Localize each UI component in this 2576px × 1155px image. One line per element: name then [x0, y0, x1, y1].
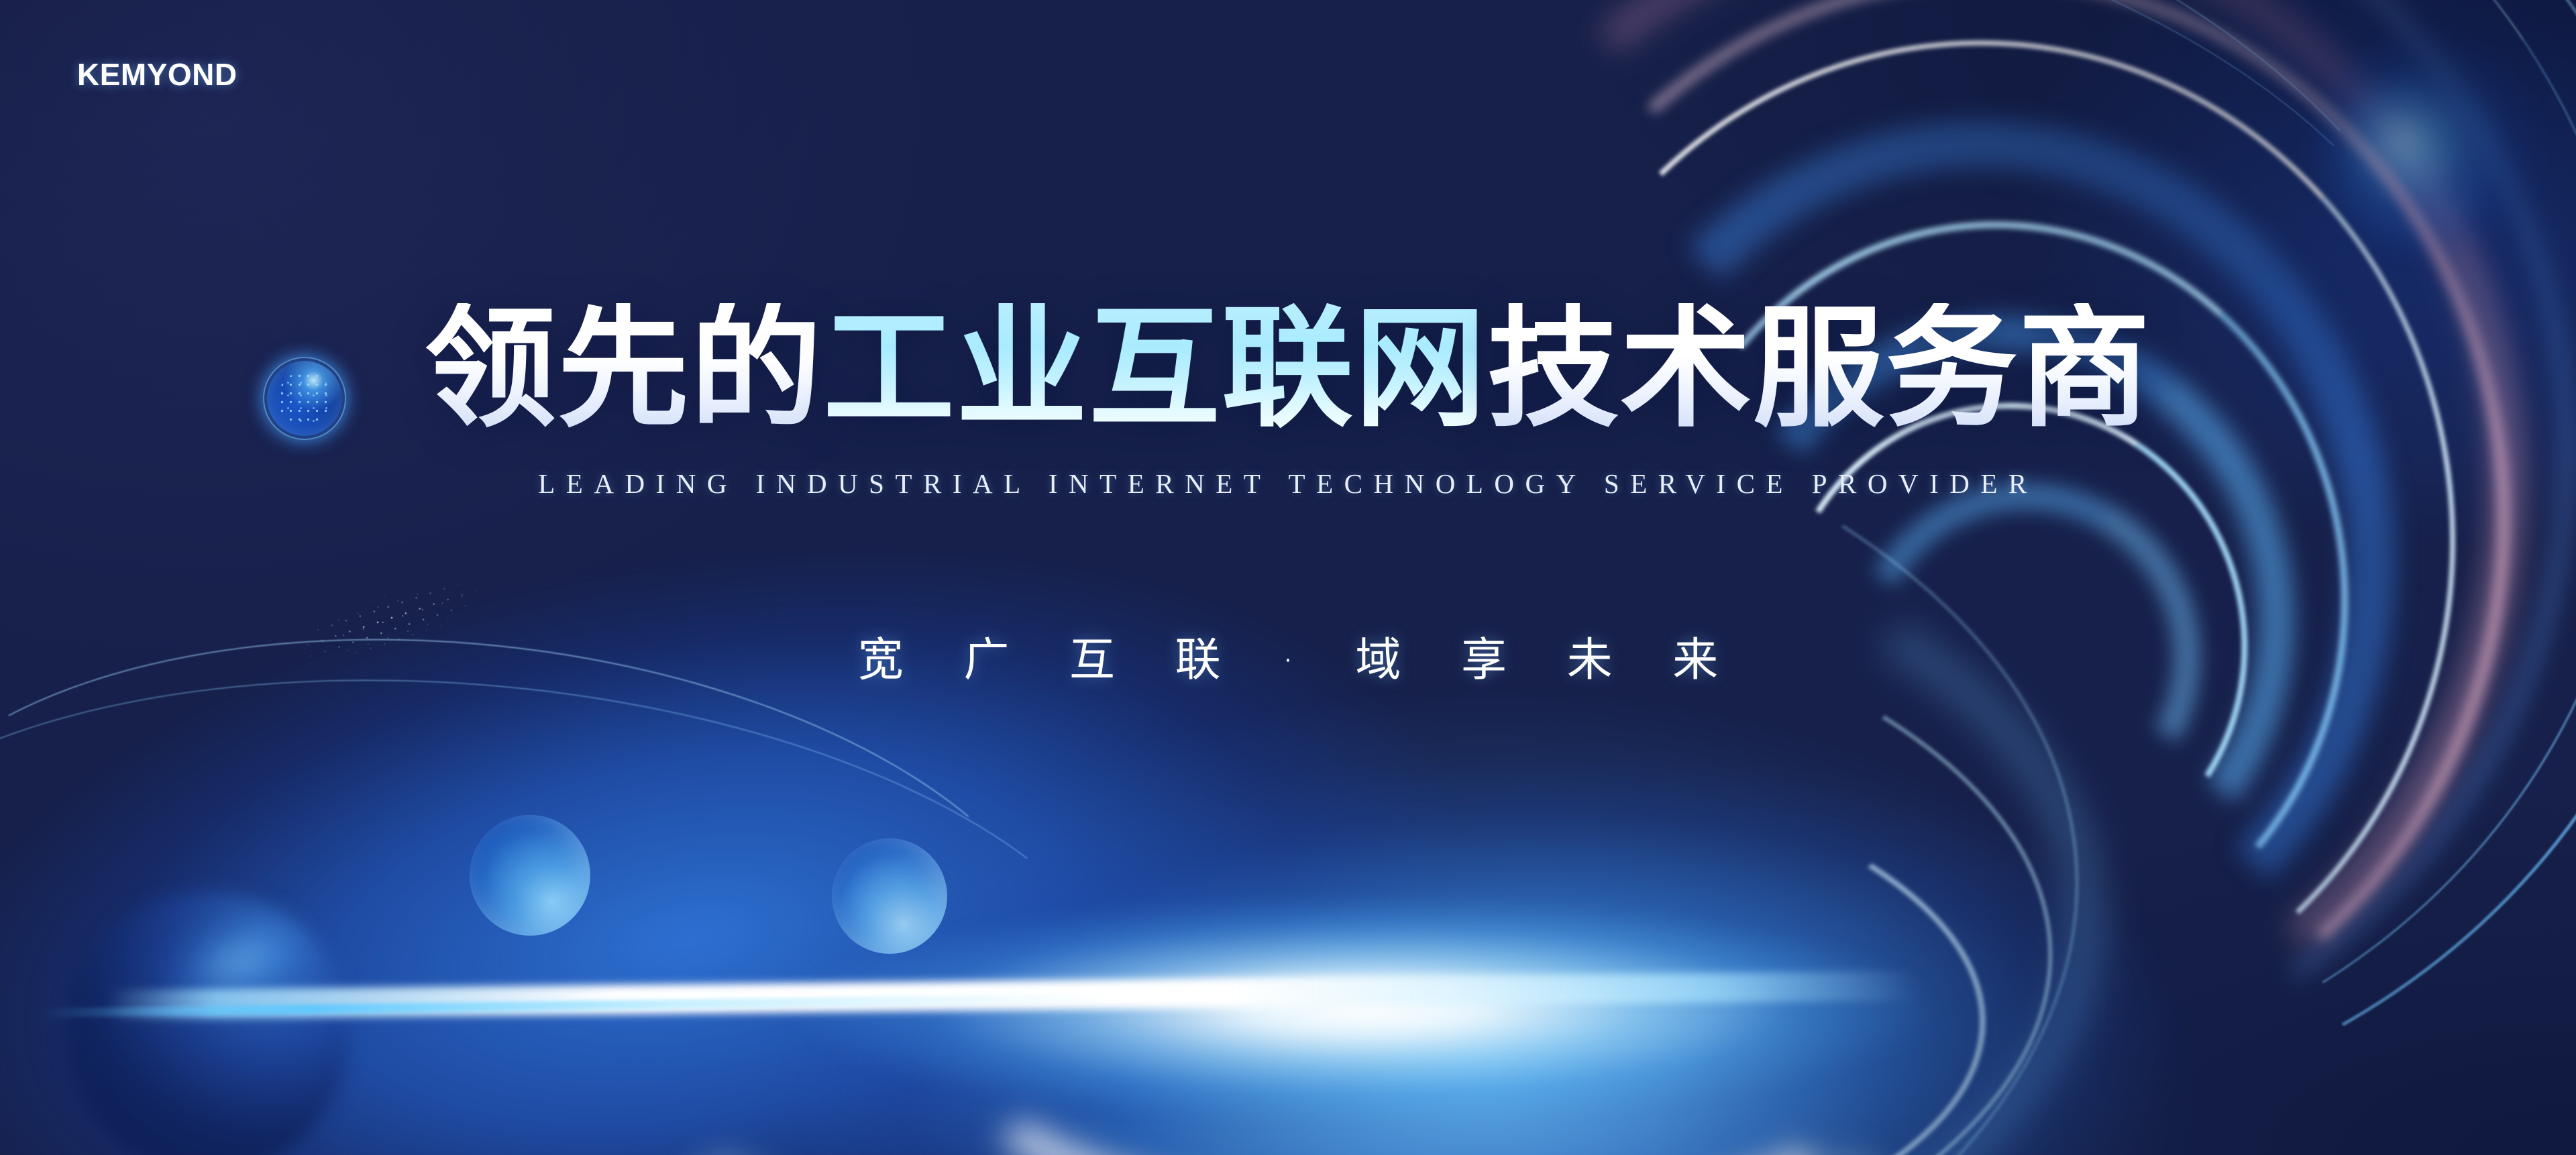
hero-headline: 领先的工业互联网技术服务商	[0, 303, 2576, 435]
headline-segment-2: 工业互联网	[823, 303, 1487, 435]
headline-segment-1: 领先的	[425, 303, 823, 435]
banner-content: KEMYOND 领先的工业互联网技术服务商 LEADING INDUSTRIAL…	[0, 0, 2576, 1155]
headline-segment-3: 技术服务商	[1487, 303, 2151, 435]
banner-canvas: KEMYOND 领先的工业互联网技术服务商 LEADING INDUSTRIAL…	[0, 0, 2576, 1155]
node-sphere-icon	[267, 361, 342, 436]
hero-tagline: 宽 广 互 联 · 域 享 未 来	[0, 622, 2576, 689]
brand-logo[interactable]: KEMYOND	[77, 59, 237, 90]
hero-subtitle: LEADING INDUSTRIAL INTERNET TECHNOLOGY S…	[0, 467, 2576, 500]
